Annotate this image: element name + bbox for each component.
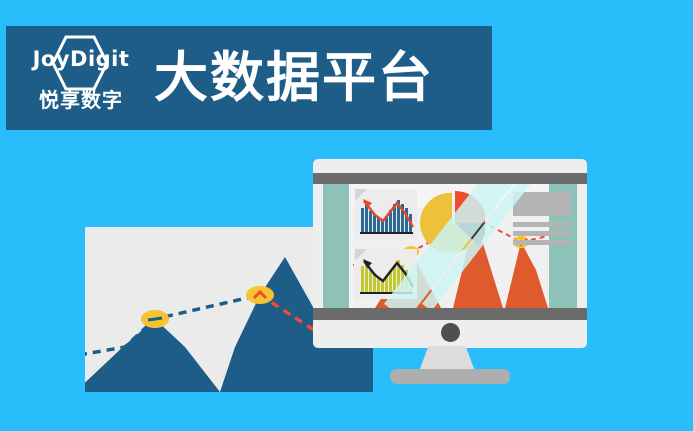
blue-bar-chart-card[interactable]: [355, 189, 417, 239]
logo-latin-text: JoyDigit: [22, 49, 140, 70]
logo-chinese-text: 悦享数字: [22, 91, 140, 111]
monitor-screen[interactable]: [323, 184, 577, 308]
desktop-monitor: [313, 159, 587, 348]
gray-line: [513, 231, 571, 236]
data-marker: [246, 286, 274, 304]
marker-line-seg: [148, 318, 162, 320]
brand-logo[interactable]: JoyDigit 悦享数字: [22, 33, 140, 123]
page-title: 大数据平台: [154, 51, 434, 105]
monitor-top-bar: [313, 173, 587, 184]
gray-line: [513, 240, 571, 245]
monitor-stand-base: [390, 369, 510, 384]
blue-bar-chart: [355, 189, 417, 239]
gray-line: [513, 222, 571, 227]
arrow-head-icon: [363, 199, 372, 208]
arrow-head-icon: [363, 259, 372, 268]
monitor-bottom-bar: [313, 308, 587, 320]
poster-canvas: JoyDigit 悦享数字 大数据平台: [0, 0, 693, 431]
header-banner: JoyDigit 悦享数字 大数据平台: [6, 26, 492, 130]
screen-left-panel: [323, 184, 349, 308]
power-indicator: [441, 323, 460, 342]
axis-line: [360, 232, 413, 234]
